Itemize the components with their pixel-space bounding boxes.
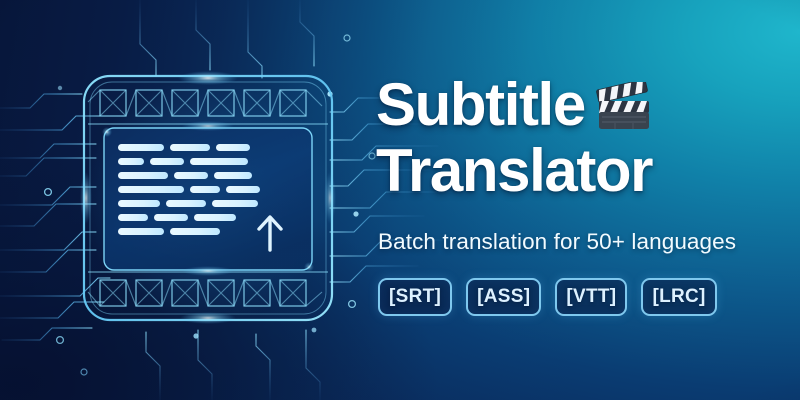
banner-root: Subtitle <box>0 0 800 400</box>
background-vignette <box>0 0 800 400</box>
